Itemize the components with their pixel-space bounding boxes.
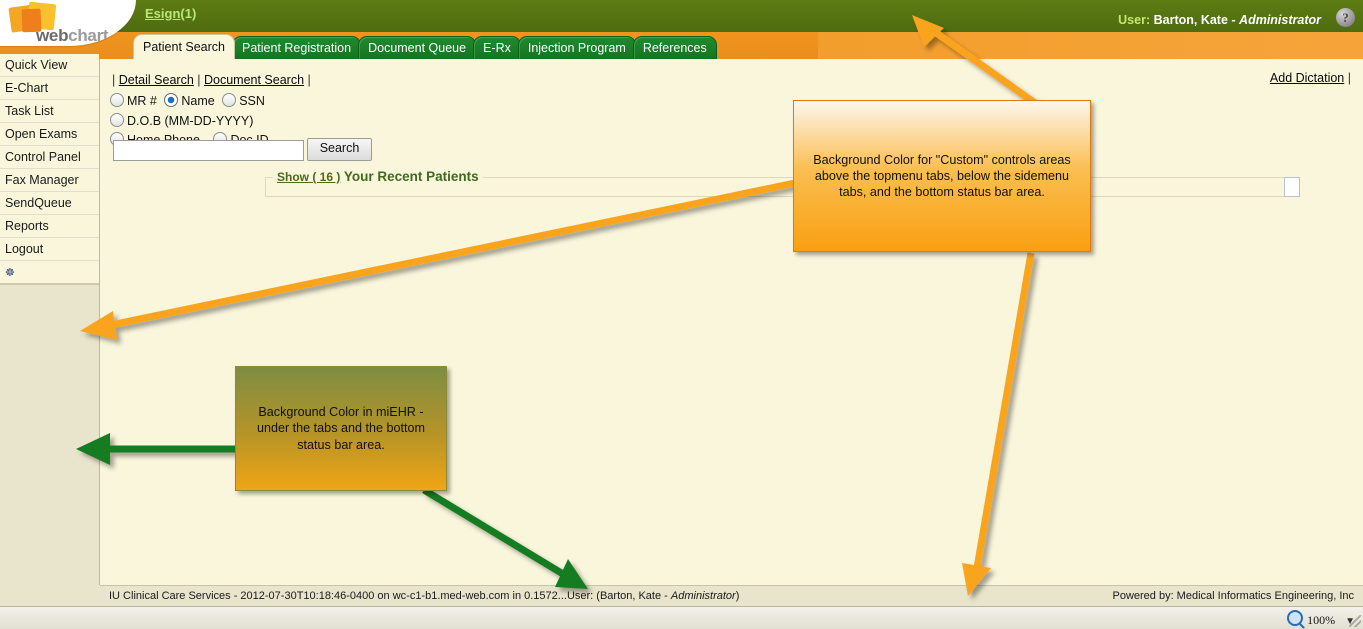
document-search-link[interactable]: Document Search	[204, 73, 304, 87]
top-header-bar: Esign(1) User: Barton, Kate - Administra…	[0, 0, 1363, 32]
radio-name[interactable]	[164, 93, 178, 107]
webchart-application: Esign(1) User: Barton, Kate - Administra…	[0, 0, 1363, 628]
tab-injection-program[interactable]: Injection Program	[518, 36, 636, 59]
status-end: )	[736, 590, 740, 602]
label-mr-number: MR #	[127, 94, 157, 108]
sidemenu: Quick View E-Chart Task List Open Exams …	[0, 59, 100, 587]
sidebar-item-quick-view[interactable]: Quick View	[0, 54, 99, 77]
esign-link[interactable]: Esign(1)	[145, 6, 196, 21]
status-bar-left-text: IU Clinical Care Services - 2012-07-30T1…	[109, 590, 739, 602]
recent-patients-endcap	[1284, 177, 1300, 197]
tab-band-gradient	[818, 32, 1363, 59]
add-dictation-suffix: |	[1344, 71, 1351, 85]
label-name: Name	[181, 94, 214, 108]
radio-mr-number[interactable]	[110, 93, 124, 107]
tab-document-queue[interactable]: Document Queue	[358, 36, 476, 59]
sidebar-item-task-list[interactable]: Task List	[0, 100, 99, 123]
detail-search-link[interactable]: Detail Search	[119, 73, 194, 87]
tab-patient-search[interactable]: Patient Search	[133, 34, 235, 59]
status-bar-left-pad	[0, 585, 100, 605]
browser-status-bar: 100%▼	[0, 606, 1363, 629]
sidebar-item-control-panel[interactable]: Control Panel	[0, 146, 99, 169]
logo-text: webchart	[36, 26, 108, 46]
link-suffix: |	[304, 73, 311, 87]
tab-e-rx[interactable]: E-Rx	[473, 36, 521, 59]
link-prefix: |	[112, 73, 119, 87]
search-type-row-2: D.O.B (MM-DD-YYYY)	[110, 113, 257, 128]
user-name: Barton, Kate -	[1154, 13, 1239, 27]
window-resize-grip[interactable]	[1349, 615, 1361, 627]
search-type-row-1: MR # Name SSN	[110, 93, 269, 108]
esign-label: Esign	[145, 6, 180, 21]
plugin-icon: ☸	[5, 267, 15, 279]
search-input[interactable]	[113, 140, 304, 161]
sidebar-item-sendqueue[interactable]: SendQueue	[0, 192, 99, 215]
topmenu-tabs: Patient Search Patient Registration Docu…	[133, 33, 714, 59]
show-recent-link[interactable]: Show ( 16 )	[277, 170, 340, 184]
logo-text-bold: web	[36, 26, 68, 45]
sidebar-item-plugin[interactable]: ☸	[0, 261, 99, 284]
sidebar-item-e-chart[interactable]: E-Chart	[0, 77, 99, 100]
sidebar-item-reports[interactable]: Reports	[0, 215, 99, 238]
recent-patients-title: Your Recent Patients	[344, 169, 479, 184]
radio-ssn[interactable]	[222, 93, 236, 107]
radio-dob[interactable]	[110, 113, 124, 127]
status-bar: IU Clinical Care Services - 2012-07-30T1…	[100, 585, 1363, 606]
link-separator: |	[194, 73, 204, 87]
browser-zoom-control[interactable]: 100%▼	[1287, 610, 1355, 628]
recent-patients-panel: Show ( 16 ) Your Recent Patients	[265, 177, 1300, 197]
add-dictation-link[interactable]: Add Dictation	[1270, 71, 1344, 85]
sidebar-item-logout[interactable]: Logout	[0, 238, 99, 261]
user-label: User:	[1118, 13, 1150, 27]
tab-references[interactable]: References	[633, 36, 717, 59]
add-dictation-area: Add Dictation |	[1270, 71, 1351, 85]
esign-count: (1)	[180, 6, 196, 21]
status-session-text: IU Clinical Care Services - 2012-07-30T1…	[109, 590, 671, 602]
status-bar-right-text: Powered by: Medical Informatics Engineer…	[1112, 590, 1354, 602]
callout-miehr-background: Background Color in miEHR - under the ta…	[235, 366, 447, 491]
label-dob: D.O.B (MM-DD-YYYY)	[127, 114, 253, 128]
recent-patients-legend: Show ( 16 ) Your Recent Patients	[273, 169, 483, 184]
status-role: Administrator	[671, 590, 736, 602]
zoom-magnifier-icon	[1287, 610, 1303, 626]
help-icon[interactable]: ?	[1336, 8, 1355, 27]
content-area: | Detail Search | Document Search | Add …	[100, 59, 1363, 587]
sidebar-item-fax-manager[interactable]: Fax Manager	[0, 169, 99, 192]
tab-patient-registration[interactable]: Patient Registration	[232, 36, 361, 59]
zoom-level: 100%	[1307, 613, 1335, 627]
page-body: Quick View E-Chart Task List Open Exams …	[0, 59, 1363, 587]
search-button[interactable]: Search	[307, 138, 372, 161]
sidebar-item-open-exams[interactable]: Open Exams	[0, 123, 99, 146]
logo-text-light: chart	[68, 26, 108, 45]
sidemenu-list: Quick View E-Chart Task List Open Exams …	[0, 54, 99, 285]
callout-custom-background: Background Color for "Custom" controls a…	[793, 100, 1091, 252]
user-role: Administrator	[1239, 13, 1321, 27]
label-ssn: SSN	[239, 94, 265, 108]
search-links: | Detail Search | Document Search |	[112, 73, 311, 87]
user-info: User: Barton, Kate - Administrator	[1118, 13, 1321, 27]
